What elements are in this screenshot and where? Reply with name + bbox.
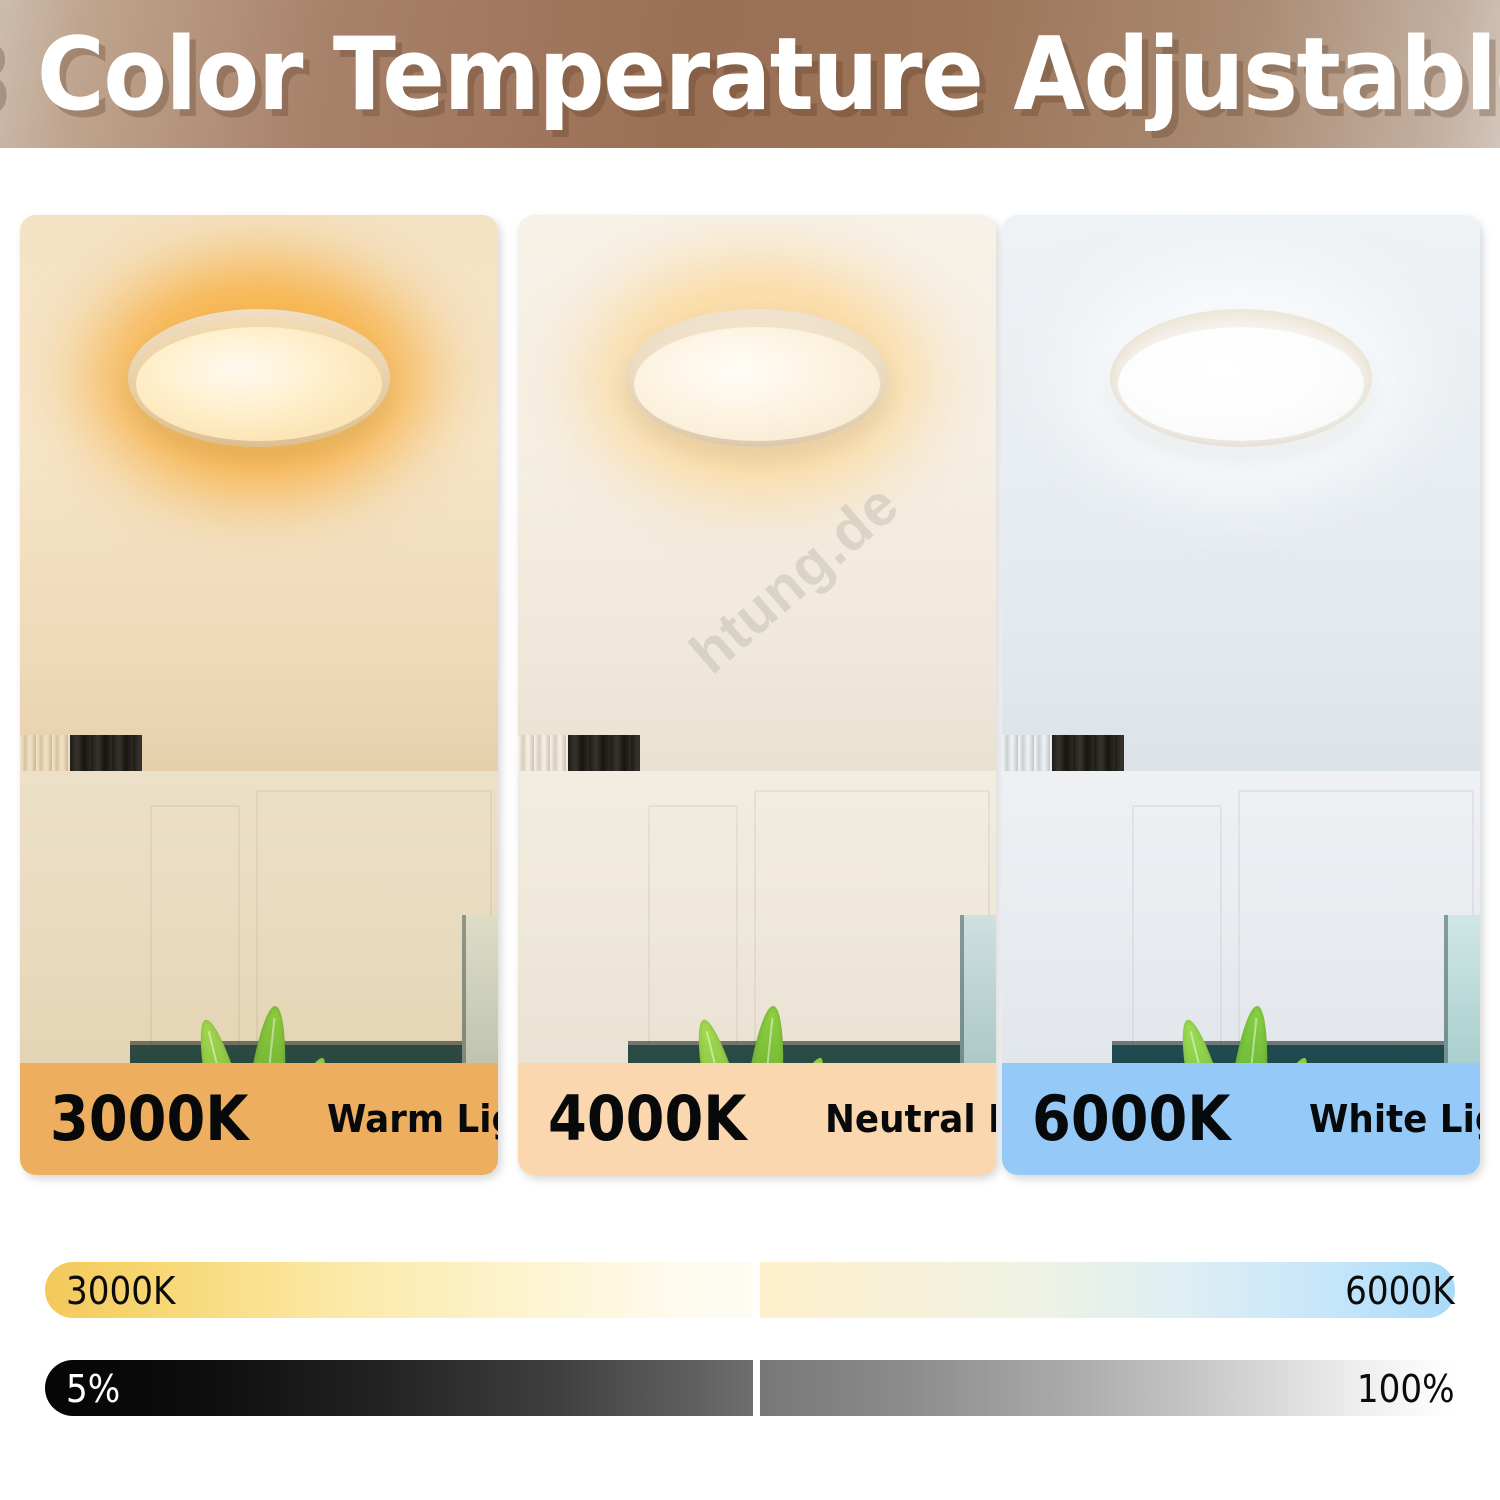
kelvin-value: 4000K — [548, 1088, 747, 1150]
kelvin-bar-3000k: 3000K Warm Light — [20, 1063, 498, 1175]
ceiling-lamp — [128, 309, 390, 447]
lamp-diffuser — [634, 327, 880, 441]
brightness-slider-right[interactable] — [760, 1360, 1455, 1416]
kelvin-bar-6000k: 6000K White Light — [1002, 1063, 1480, 1175]
brightness-slider-left[interactable] — [45, 1360, 753, 1416]
room-scene-4000k: htung.de — [518, 215, 996, 1175]
lamp-rim — [128, 309, 390, 447]
brightness-max-label: 100% — [1357, 1370, 1455, 1408]
brightness-min-label: 5% — [66, 1370, 120, 1408]
lamp-rim — [626, 309, 888, 447]
kelvin-bar-4000k: 4000K Neutral Light — [518, 1063, 996, 1175]
color-temperature-panels: 3000K Warm Light — [0, 215, 1500, 1180]
infographic-page: 3 Color Temperature Adjustable — [0, 0, 1500, 1500]
ceiling-lamp — [626, 309, 888, 447]
light-name: Warm Light — [327, 1100, 498, 1138]
panel-6000k[interactable]: 6000K White Light — [1002, 215, 1480, 1175]
lamp-diffuser — [136, 327, 382, 441]
panel-3000k[interactable]: 3000K Warm Light — [20, 215, 498, 1175]
panel-4000k[interactable]: htung.de 4000K Neutral Light — [518, 215, 996, 1175]
ceiling-lamp — [1110, 309, 1372, 447]
room-scene-6000k — [1002, 215, 1480, 1175]
room-scene-3000k — [20, 215, 498, 1175]
lamp-diffuser — [1118, 327, 1364, 441]
light-name: White Light — [1309, 1100, 1480, 1138]
kelvin-value: 6000K — [1032, 1088, 1231, 1150]
light-name: Neutral Light — [825, 1100, 996, 1138]
kelvin-value: 3000K — [50, 1088, 249, 1150]
lamp-rim — [1110, 309, 1372, 447]
cct-max-label: 6000K — [1346, 1272, 1455, 1310]
cct-min-label: 3000K — [66, 1272, 175, 1310]
header-banner: 3 Color Temperature Adjustable — [0, 0, 1500, 148]
page-title: 3 Color Temperature Adjustable — [64, 0, 1437, 148]
